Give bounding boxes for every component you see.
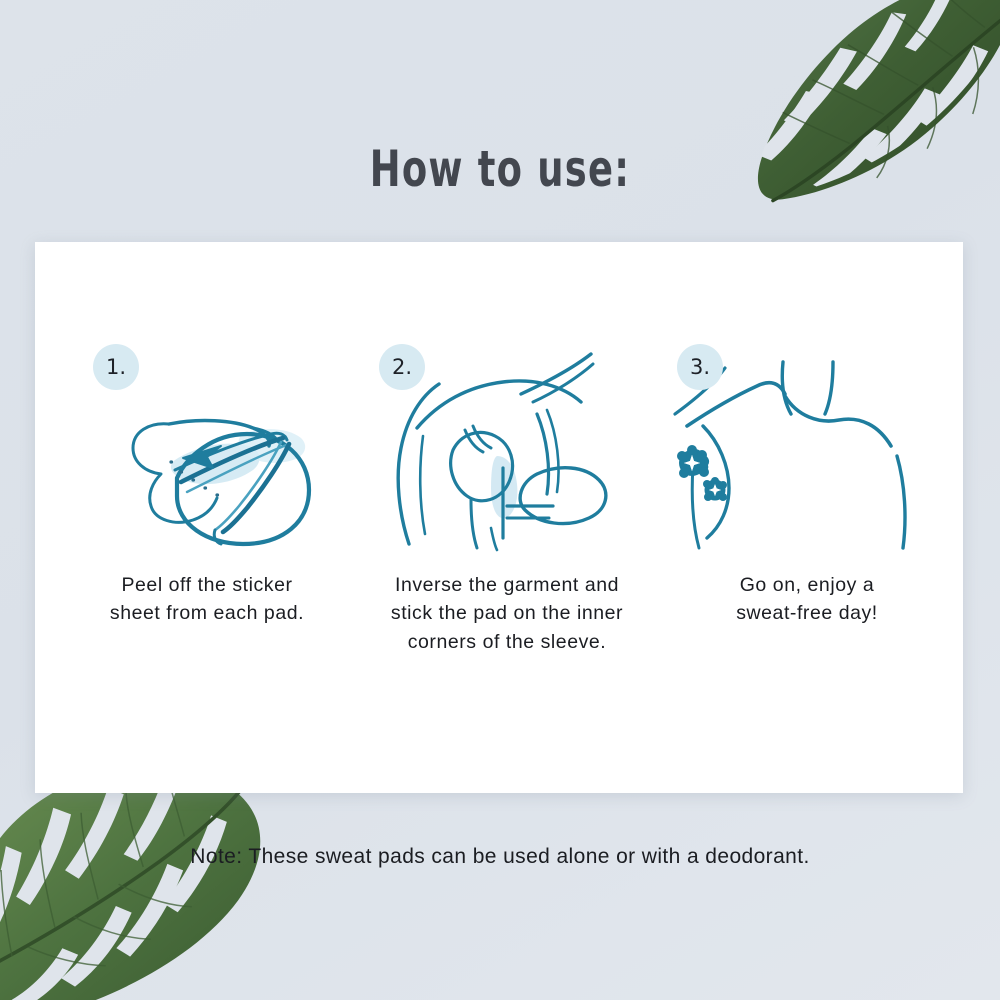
step-item-2: 2. bbox=[357, 338, 657, 656]
step-1-badge: 1. bbox=[93, 344, 139, 390]
instructions-card: 1. bbox=[35, 242, 963, 793]
step-1-number: 1. bbox=[106, 355, 126, 379]
step-item-3: 3. bbox=[657, 338, 957, 628]
page-root: How to use: 1. bbox=[0, 0, 1000, 1000]
step-3-art-wrap: 3. bbox=[657, 338, 957, 553]
footer-note: Note: These sweat pads can be used alone… bbox=[0, 845, 1000, 869]
step-2-art-wrap: 2. bbox=[357, 338, 657, 553]
step-2-caption: Inverse the garment and stick the pad on… bbox=[357, 571, 657, 656]
monstera-leaf-top-right-icon bbox=[688, 0, 1000, 277]
step-2-number: 2. bbox=[392, 355, 412, 379]
step-3-number: 3. bbox=[690, 355, 710, 379]
step-3-badge: 3. bbox=[677, 344, 723, 390]
page-title: How to use: bbox=[90, 140, 910, 198]
steps-container: 1. bbox=[35, 338, 963, 656]
step-1-art-wrap: 1. bbox=[57, 338, 357, 553]
step-item-1: 1. bbox=[57, 338, 357, 628]
step-1-caption: Peel off the sticker sheet from each pad… bbox=[57, 571, 357, 628]
step-3-caption: Go on, enjoy a sweat-free day! bbox=[657, 571, 957, 628]
step-2-badge: 2. bbox=[379, 344, 425, 390]
